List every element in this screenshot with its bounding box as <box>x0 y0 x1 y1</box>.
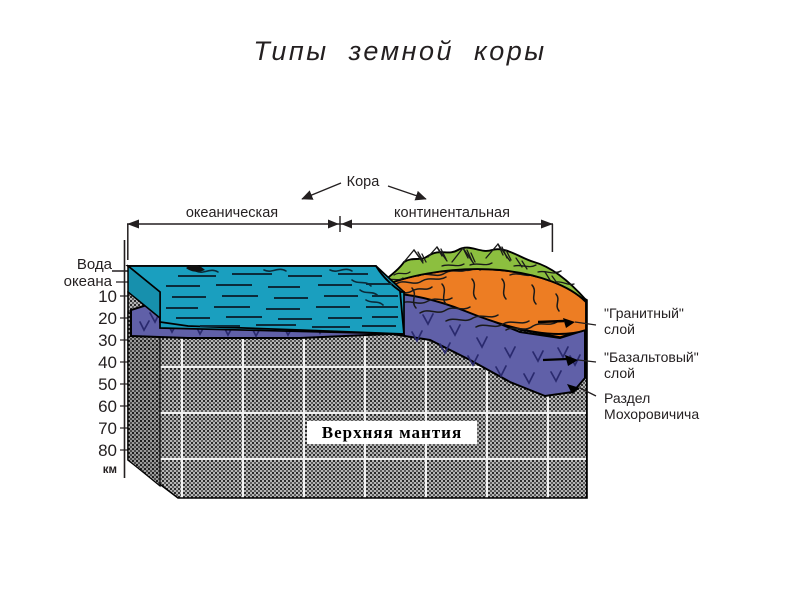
label-oceanic-crust: океаническая <box>186 205 278 221</box>
depth-tick-20: 20 <box>98 309 117 328</box>
label-moho-line1: Раздел <box>604 390 650 406</box>
depth-tick-30: 30 <box>98 331 117 350</box>
label-moho-line2: Мохоровичича <box>604 406 699 422</box>
ocean-water-label-line2: океана <box>64 273 113 290</box>
depth-tick-40: 40 <box>98 353 117 372</box>
depth-tick-50: 50 <box>98 375 117 394</box>
label-upper-mantle: Верхняя мантия <box>322 423 462 442</box>
label-basalt-line2: слой <box>604 365 635 381</box>
ocean-water-body <box>128 265 404 334</box>
ocean-water-label-line1: Вода <box>77 256 113 273</box>
diagram-page: Типы земной коры <box>0 0 800 600</box>
label-continental-crust: континентальная <box>394 205 510 221</box>
label-crust: Кора <box>347 174 381 190</box>
depth-unit-label: км <box>103 464 117 476</box>
label-granite-line2: слой <box>604 321 635 337</box>
depth-tick-80: 80 <box>98 441 117 460</box>
label-granite-line1: "Гранитный" <box>604 305 684 321</box>
block-right-face <box>586 300 587 498</box>
depth-tick-70: 70 <box>98 419 117 438</box>
label-basalt-line1: "Базальтовый" <box>604 349 699 365</box>
crust-types-diagram: океаническая континентальная Кора 10 20 … <box>0 0 800 600</box>
depth-tick-60: 60 <box>98 397 117 416</box>
